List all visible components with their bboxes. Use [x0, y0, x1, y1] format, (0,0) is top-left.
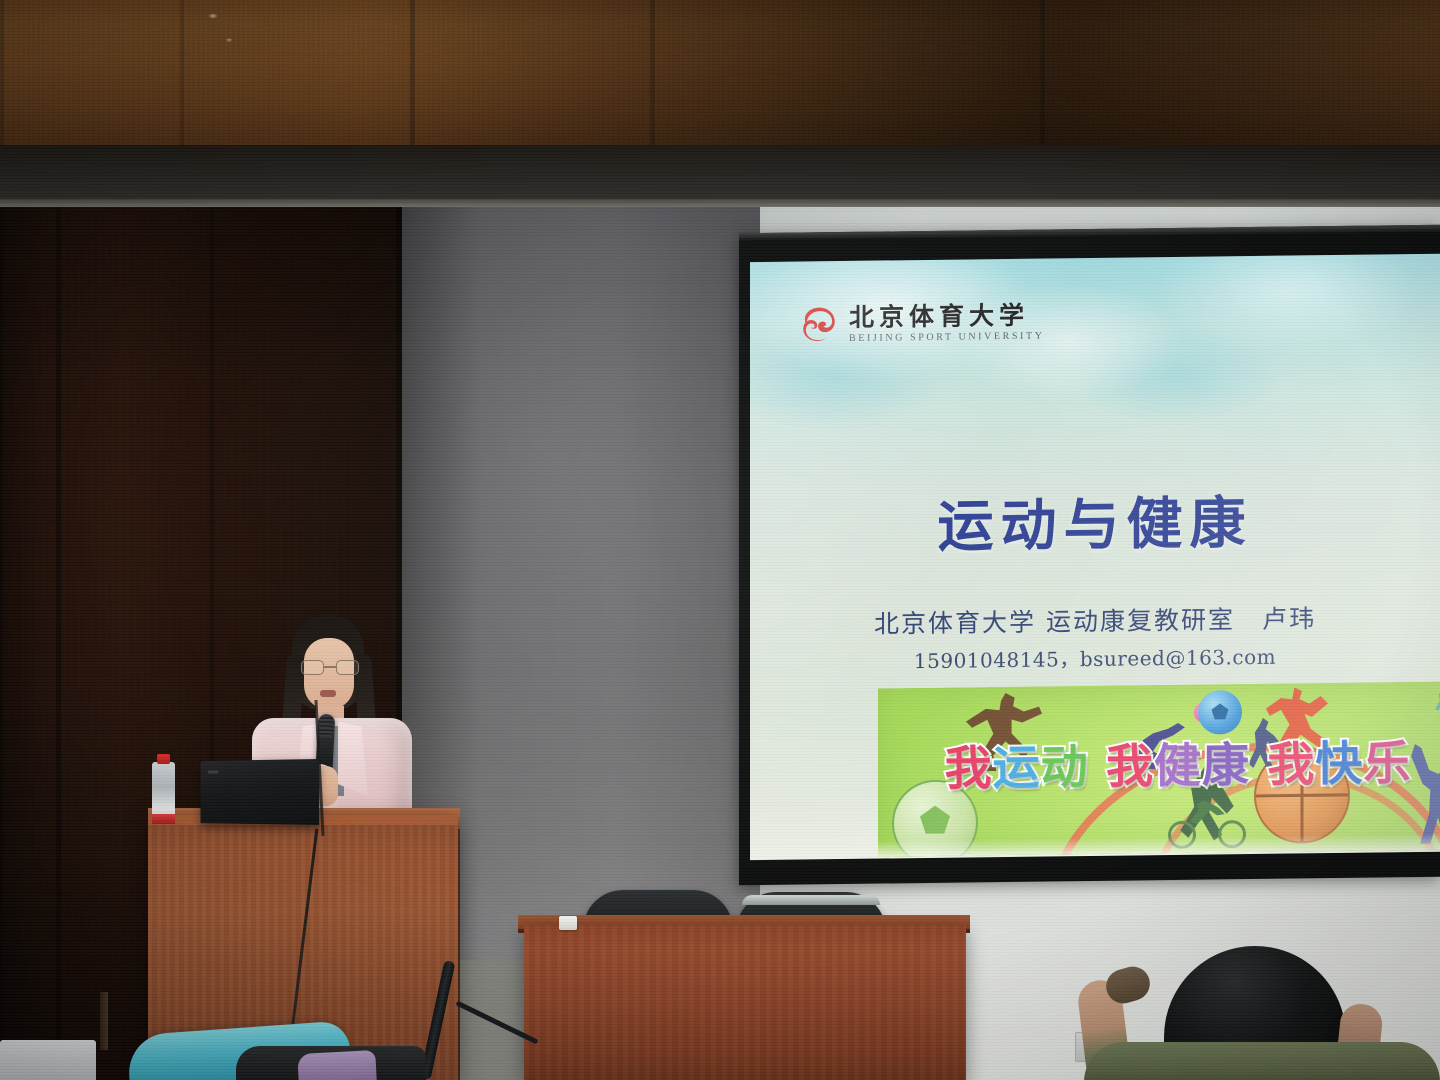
sports-banner: 我运动 我健康 我快乐	[878, 681, 1440, 856]
banner-char: 运	[993, 741, 1041, 797]
purple-item	[297, 1050, 376, 1080]
banner-char: 健	[1154, 739, 1202, 795]
front-attendee	[1060, 938, 1440, 1080]
banner-char: 快	[1315, 737, 1363, 793]
lecture-hall-scene: 北京体育大学 BEIJING SPORT UNIVERSITY 运动与健康 北京…	[0, 0, 1440, 1080]
presentation-slide[interactable]: 北京体育大学 BEIJING SPORT UNIVERSITY 运动与健康 北京…	[750, 254, 1440, 860]
front-table	[524, 925, 966, 1080]
slide-subtitle: 北京体育大学 运动康复教研室 卢玮	[750, 598, 1440, 642]
slide-title: 运动与健康	[750, 476, 1440, 565]
water-bottle	[152, 762, 175, 824]
remote-control[interactable]	[559, 916, 577, 930]
eyeglasses-icon	[301, 660, 359, 675]
banner-char: 我	[1106, 739, 1154, 795]
banner-char: 康	[1202, 738, 1250, 794]
laptop[interactable]	[201, 759, 320, 825]
ceiling-spotlight-speck	[205, 10, 265, 60]
wood-ceiling-panel	[0, 0, 1440, 152]
banner-slogan: 我运动 我健康 我快乐	[878, 739, 1440, 793]
silver-laptop[interactable]	[0, 1040, 96, 1080]
red-swirl-logo-icon	[798, 303, 840, 346]
blue-soccer-ball-icon	[1198, 690, 1242, 735]
bsu-logo: 北京体育大学 BEIJING SPORT UNIVERSITY	[798, 301, 1045, 346]
banner-char: 我	[945, 741, 993, 797]
wood-post	[100, 992, 108, 1050]
banner-char: 我	[1267, 737, 1315, 793]
mouth	[320, 690, 336, 697]
slide-contact: 15901048145，bsureed@163.com	[750, 639, 1440, 676]
bsu-logo-en: BEIJING SPORT UNIVERSITY	[849, 330, 1045, 343]
banner-char: 动	[1041, 740, 1089, 796]
projection-screen[interactable]: 北京体育大学 BEIJING SPORT UNIVERSITY 运动与健康 北京…	[739, 225, 1440, 886]
banner-char: 乐	[1363, 736, 1411, 792]
small-athlete-icon	[1434, 688, 1440, 712]
ceiling-beam	[0, 145, 1440, 207]
bsu-logo-cn: 北京体育大学	[849, 302, 1045, 329]
olive-jacket	[1084, 1042, 1440, 1080]
